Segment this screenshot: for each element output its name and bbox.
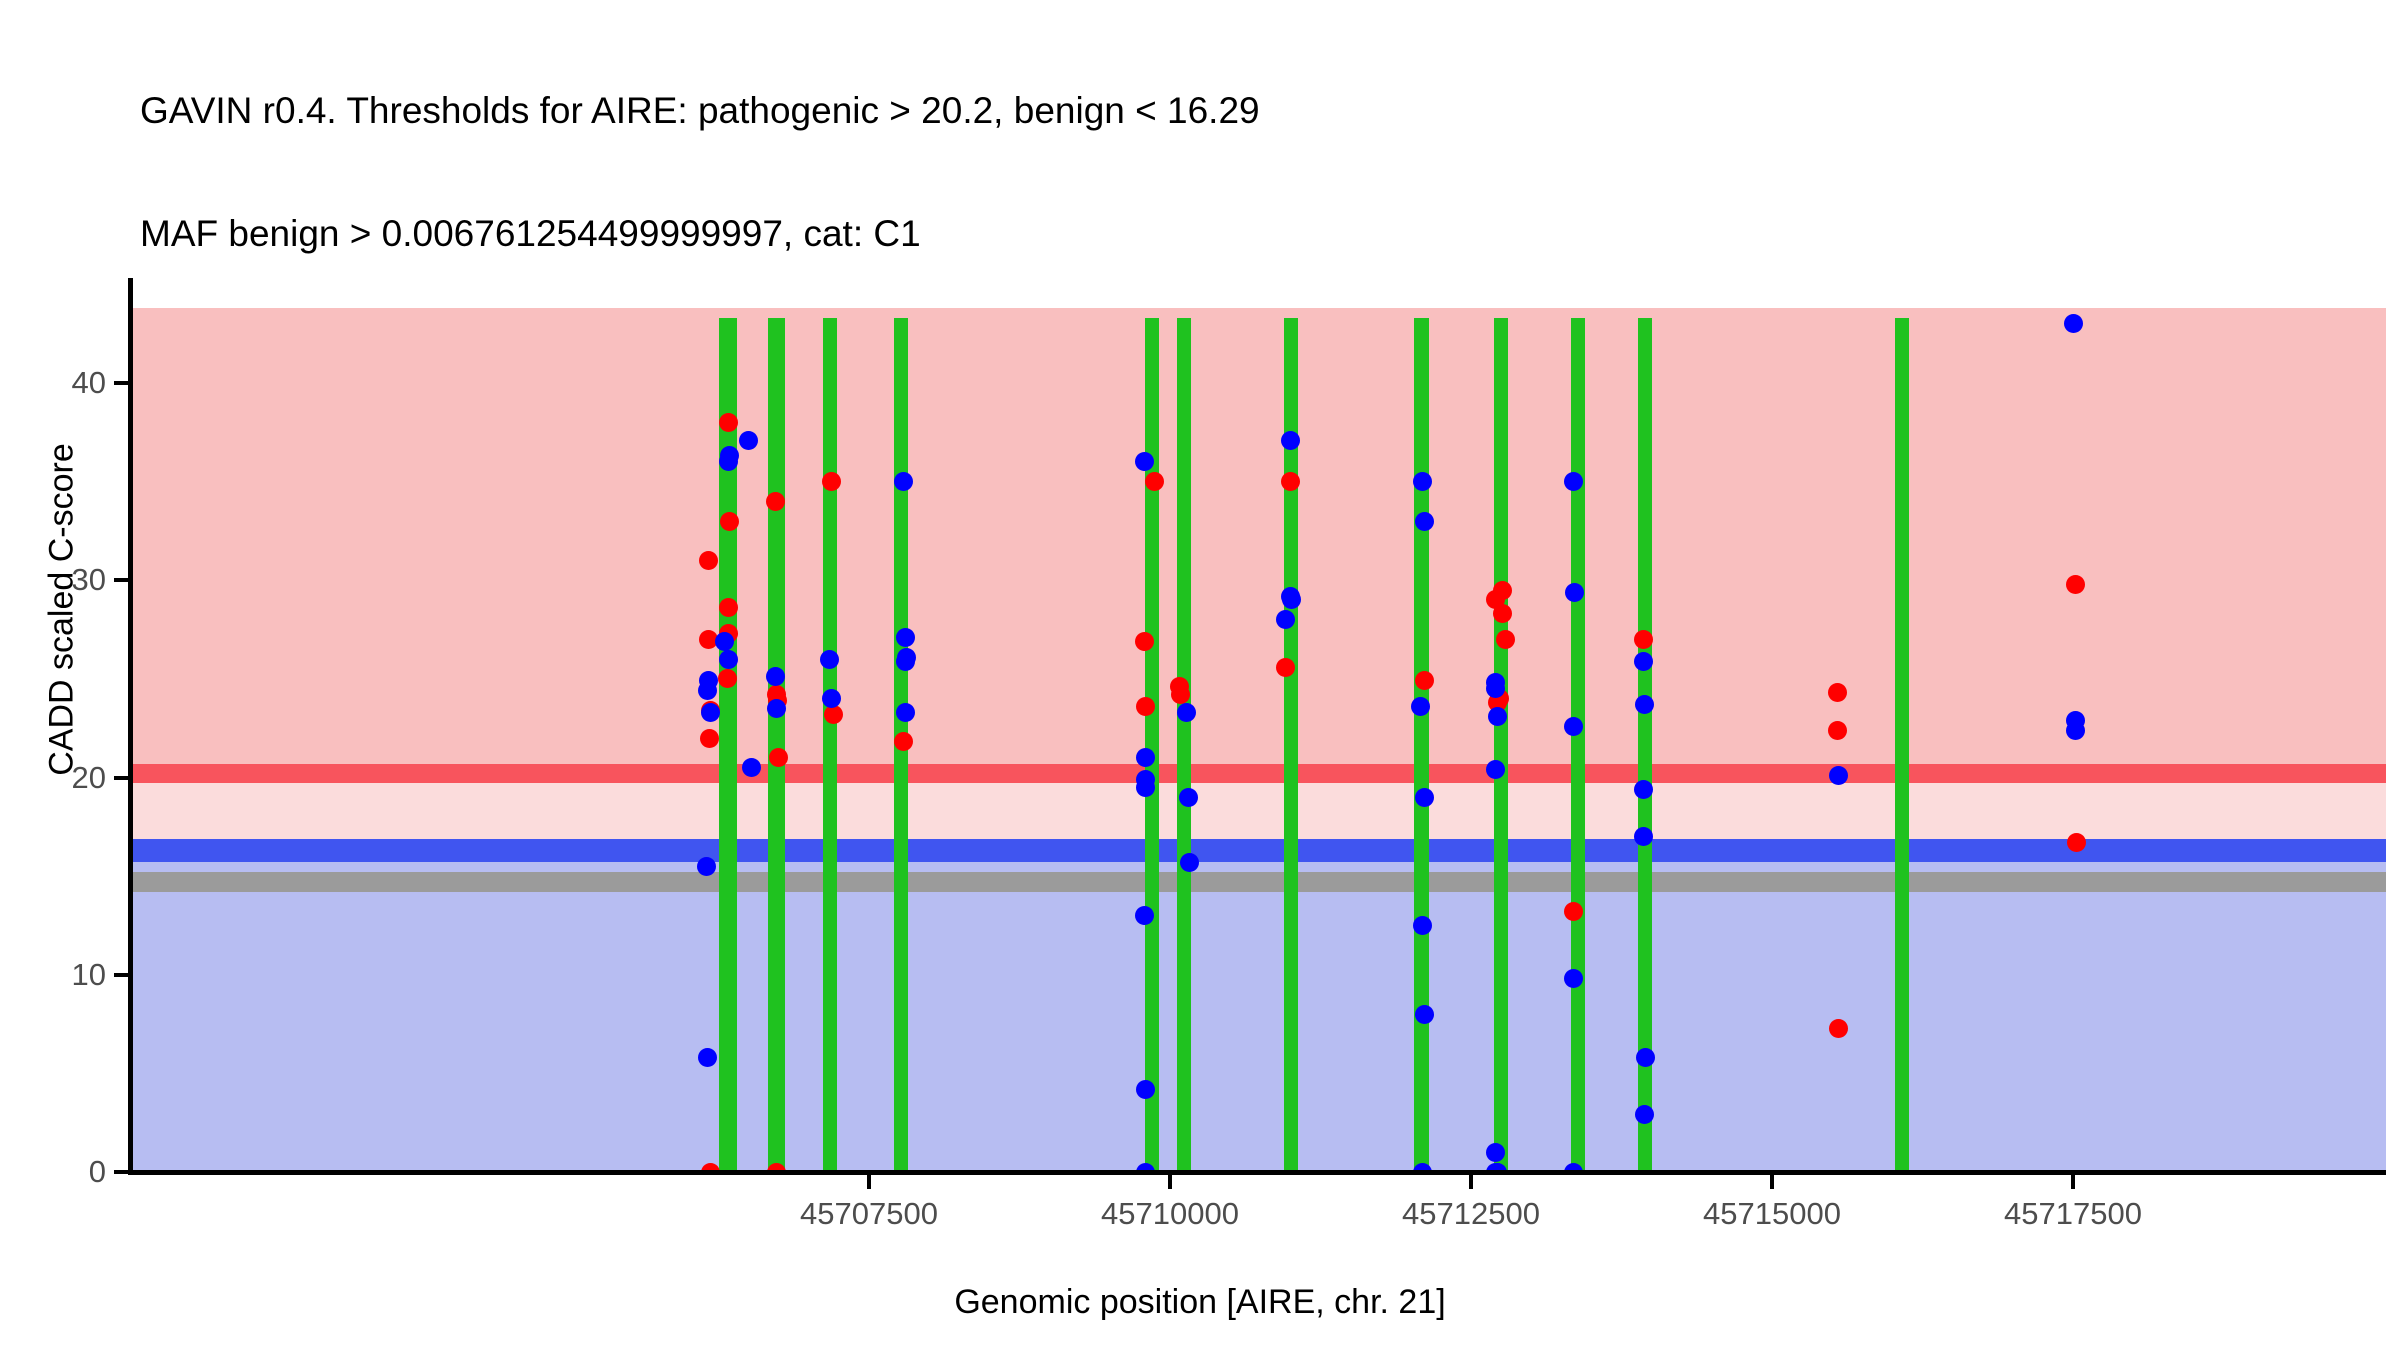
clinvar-variant-point [1145, 472, 1164, 491]
benign-threshold-line [132, 839, 2386, 863]
clinvar-variant-point [1493, 604, 1512, 623]
y-axis-tick [114, 776, 128, 780]
gnomad-variant-point [1565, 583, 1584, 602]
gnomad-variant-point [1829, 766, 1848, 785]
y-axis-line [128, 278, 133, 1175]
plot-root: GAVIN r0.4. Thresholds for AIRE: pathoge… [0, 0, 2400, 1350]
x-axis-tick [1469, 1175, 1473, 1189]
gnomad-variant-point [1488, 707, 1507, 726]
gnomad-variant-point [1486, 760, 1505, 779]
clinvar-variant-point [1564, 902, 1583, 921]
gnomad-variant-point [1415, 1005, 1434, 1024]
clinvar-variant-point [700, 729, 719, 748]
gnomad-variant-point [1635, 695, 1654, 714]
gnomad-variant-point [896, 703, 915, 722]
clinvar-variant-point [1634, 630, 1653, 649]
gnomad-variant-point [701, 703, 720, 722]
exon-bar [1895, 318, 1909, 1172]
y-axis-tick-label: 10 [0, 957, 106, 993]
clinvar-variant-point [2066, 575, 2085, 594]
gnomad-variant-point [822, 689, 841, 708]
y-axis-tick [114, 1170, 128, 1174]
exon-bar [1494, 318, 1508, 1172]
gnomad-variant-point [1486, 679, 1505, 698]
gnomad-variant-point [1136, 1080, 1155, 1099]
clinvar-variant-point [766, 492, 785, 511]
x-axis-tick-label: 45717500 [2004, 1196, 2142, 1232]
plot-panel [132, 281, 2386, 1172]
y-axis-tick-label: 0 [0, 1154, 106, 1190]
pathogenic-threshold-line [132, 764, 2386, 784]
gnomad-variant-point [742, 758, 761, 777]
exon-bar [1571, 318, 1585, 1172]
gnomad-variant-point [1486, 1143, 1505, 1162]
x-axis-tick [2071, 1175, 2075, 1189]
benign-zone-band [132, 892, 2386, 1172]
clinvar-variant-point [1829, 1019, 1848, 1038]
gnomad-variant-point [715, 632, 734, 651]
clinvar-variant-point [1276, 658, 1295, 677]
clinvar-variant-point [1828, 721, 1847, 740]
exon-bar [823, 318, 837, 1172]
x-axis-tick-label: 45715000 [1703, 1196, 1841, 1232]
x-axis-line [130, 1170, 2386, 1175]
benign-zone-band-top [132, 862, 2386, 872]
gnomad-variant-point [1564, 472, 1583, 491]
gnomad-variant-point [1281, 431, 1300, 450]
clinvar-variant-point [719, 598, 738, 617]
gnomad-variant-point [896, 628, 915, 647]
gnomad-variant-point [2066, 721, 2085, 740]
gnomad-variant-point [820, 650, 839, 669]
gnomad-variant-point [698, 1048, 717, 1067]
gnomad-variant-point [2064, 314, 2083, 333]
x-axis-tick [867, 1175, 871, 1189]
exon-bar [1177, 318, 1191, 1172]
title-line-2: MAF benign > 0.006761254499999997, cat: … [140, 213, 2340, 254]
gnomad-variant-point [1634, 827, 1653, 846]
clinvar-variant-point [1135, 632, 1154, 651]
exon-bar [1145, 318, 1159, 1172]
clinvar-variant-point [1493, 581, 1512, 600]
x-axis-tick-label: 45707500 [800, 1196, 938, 1232]
gnomad-variant-point [697, 857, 716, 876]
gnomad-variant-point [1564, 717, 1583, 736]
exon-bar [1638, 318, 1652, 1172]
y-axis-tick [114, 973, 128, 977]
clinvar-variant-point [1415, 671, 1434, 690]
vous-zone-band [132, 783, 2386, 838]
x-axis-title: Genomic position [AIRE, chr. 21] [0, 1283, 2400, 1322]
y-axis-tick [114, 578, 128, 582]
x-axis-tick [1168, 1175, 1172, 1189]
pathogenic-zone-band [132, 308, 2386, 764]
x-axis-tick [1770, 1175, 1774, 1189]
gnomad-variant-point [1180, 853, 1199, 872]
clinvar-variant-point [1281, 472, 1300, 491]
clinvar-variant-point [720, 512, 739, 531]
gnomad-variant-point [1415, 788, 1434, 807]
genome-wide-fallback-line [132, 872, 2386, 892]
title-line-1: GAVIN r0.4. Thresholds for AIRE: pathoge… [140, 90, 2340, 131]
x-axis-tick-label: 45710000 [1101, 1196, 1239, 1232]
y-axis-title: CADD scaled C-score [43, 270, 82, 950]
gnomad-variant-point [1411, 697, 1430, 716]
gnomad-variant-point [739, 431, 758, 450]
gnomad-variant-point [1634, 652, 1653, 671]
gnomad-variant-point [1179, 788, 1198, 807]
gnomad-variant-point [1415, 512, 1434, 531]
gnomad-variant-point [699, 671, 718, 690]
clinvar-variant-point [1171, 685, 1190, 704]
exon-bar [1414, 318, 1428, 1172]
gnomad-variant-point [897, 648, 916, 667]
gnomad-variant-point [1634, 780, 1653, 799]
gnomad-variant-point [719, 650, 738, 669]
exon-bar [768, 318, 785, 1172]
x-axis-tick-label: 45712500 [1402, 1196, 1540, 1232]
y-axis-tick [114, 381, 128, 385]
clinvar-variant-point [769, 748, 788, 767]
clinvar-variant-point [719, 413, 738, 432]
clinvar-variant-point [1828, 683, 1847, 702]
